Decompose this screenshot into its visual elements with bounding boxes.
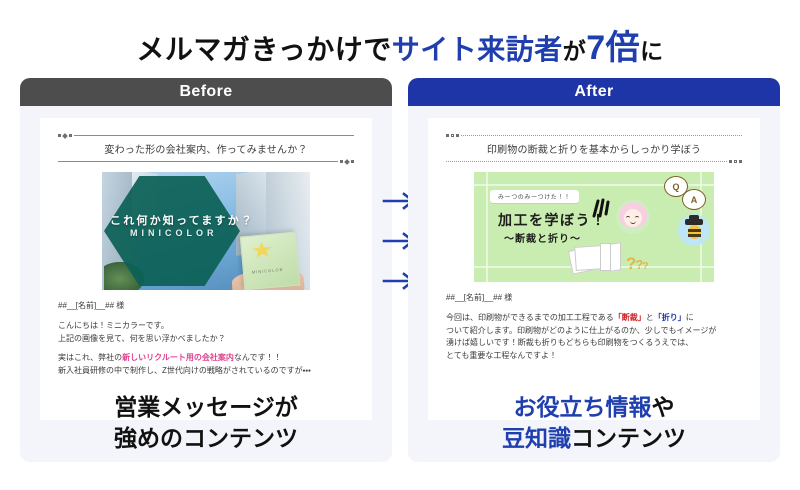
caption-line-1: 営業メッセージが — [20, 392, 392, 423]
bee-stripe — [688, 229, 701, 232]
mail-hero-image-after: みーつのみーつけた！！ 加工を学ぼう！ 〜断裁と折り〜 Q — [474, 172, 714, 282]
hero-brand-text: MINICOLOR — [130, 228, 218, 238]
title-part-2-highlight: サイト来訪者 — [392, 34, 563, 65]
panel-before-header: Before — [20, 78, 392, 106]
rule-bar — [461, 135, 742, 136]
caption-line-1: お役立ち情報や — [408, 392, 780, 423]
mail-line: こんにちは！ミニカラーです。 — [58, 321, 169, 330]
guide-line — [486, 172, 488, 282]
title-part-1: メルマガきっかけで — [136, 34, 391, 65]
mail-hero-image-before: これ何か知ってますか？ MINICOLOR MINICOLOR — [102, 172, 310, 290]
folded-paper — [610, 242, 621, 272]
mail-line: 上記の画像を見て、何を思い浮かべましたか？ — [58, 334, 226, 343]
page-title: メルマガきっかけでサイト来訪者が7倍に — [0, 20, 800, 69]
mail-line: とても重要な工程なんですよ！ — [446, 351, 557, 360]
sparkle-icon — [592, 198, 610, 218]
brochure-logo-text: MINICOLOR — [252, 267, 284, 275]
title-part-3: が — [563, 38, 587, 64]
outline-square-marker-icon — [734, 160, 737, 163]
panel-after-header: After — [408, 78, 780, 106]
square-marker-icon — [456, 134, 459, 137]
qa-speech-bubbles: Q A — [662, 176, 708, 212]
question-mark-small: ? — [642, 261, 647, 272]
headline-rule-top — [446, 132, 742, 139]
mail-preview-after: 印刷物の断裁と折りを基本からしっかり学ぼう みーつのみーつけた！！ 加工を学ぼう… — [428, 118, 760, 420]
rule-bar — [446, 161, 727, 162]
caption-line-2: 強めのコンテンツ — [20, 423, 392, 454]
mail-line: に — [686, 313, 694, 322]
bee-character-icon — [678, 214, 710, 246]
question-mark-large: ? — [626, 254, 635, 273]
hero-main-text: これ何か知ってますか？ — [110, 212, 292, 228]
rule-bar — [74, 135, 354, 136]
mail-paragraph: こんにちは！ミニカラーです。 上記の画像を見て、何を思い浮かべましたか？ — [58, 320, 354, 345]
bee-stripe — [688, 234, 701, 237]
avatar-eye — [635, 216, 639, 219]
brochure-card: MINICOLOR — [240, 232, 300, 290]
outline-square-marker-icon — [451, 134, 454, 137]
caption-highlight: 豆知識 — [502, 425, 571, 451]
mail-headline-text: 変わった形の会社案内、作ってみませんか？ — [58, 139, 354, 158]
headline-rule-top — [58, 132, 354, 139]
mail-salutation: ##__[名前]__## 様 — [58, 300, 354, 312]
caption-highlight: お役立ち情報 — [514, 394, 652, 420]
infographic-canvas: メルマガきっかけでサイト来訪者が7倍に Before 変わった形の会社案内、作っ… — [0, 0, 800, 490]
mail-emphasis: 新しいリクルート用の会社案内 — [122, 353, 234, 362]
square-marker-icon — [739, 160, 742, 163]
mail-emphasis-blue: 「折り」 — [654, 313, 686, 322]
square-marker-icon — [446, 134, 449, 137]
mail-preview-before: 変わった形の会社案内、作ってみませんか？ これ何か知ってますか？ MINI — [40, 118, 372, 420]
square-marker-icon — [58, 134, 61, 137]
bee-body — [688, 225, 701, 239]
mail-line: 新入社員研修の中で制作し、Z世代向けの戦略がされているのですが・・・ — [58, 366, 311, 375]
rule-bar — [58, 161, 338, 162]
caption-before: 営業メッセージが 強めのコンテンツ — [20, 392, 392, 454]
answer-bubble: A — [682, 189, 706, 210]
mail-headline-text: 印刷物の断裁と折りを基本からしっかり学ぼう — [446, 139, 742, 158]
mail-body-after: ##__[名前]__## 様 今回は、印刷物ができるまでの加工工程である「断裁」… — [446, 292, 742, 362]
girl-avatar-icon — [616, 200, 650, 234]
mail-line: と — [646, 313, 654, 322]
mail-paragraph: 実はこれ、弊社の新しいリクルート用の会社案内なんです！！ 新入社員研修の中で制作… — [58, 352, 354, 377]
headline-rule-bottom — [446, 158, 742, 165]
mail-headline-before: 変わった形の会社案内、作ってみませんか？ — [58, 132, 354, 165]
paper-sheets-icon — [570, 240, 624, 272]
diamond-marker-icon — [344, 159, 350, 165]
caption-line-2: 豆知識コンテンツ — [408, 423, 780, 454]
mail-body-before: ##__[名前]__## 様 こんにちは！ミニカラーです。 上記の画像を見て、何… — [58, 300, 354, 377]
square-marker-icon — [351, 160, 354, 163]
title-part-4-highlight: 7倍 — [586, 29, 640, 67]
mail-headline-after: 印刷物の断裁と折りを基本からしっかり学ぼう — [446, 132, 742, 165]
mail-salutation: ##__[名前]__## 様 — [446, 292, 742, 304]
caption-plain: コンテンツ — [571, 425, 686, 451]
mail-line: 今回は、印刷物ができるまでの加工工程である — [446, 313, 614, 322]
mail-line: なんです！！ — [234, 353, 282, 362]
title-part-5: に — [640, 38, 664, 64]
caption-after: お役立ち情報や 豆知識コンテンツ — [408, 392, 780, 454]
diamond-marker-icon — [62, 133, 68, 139]
mail-paragraph: 今回は、印刷物ができるまでの加工工程である「断裁」と「折り」に ついて紹介します… — [446, 312, 742, 362]
hero-title: 加工を学ぼう！ — [498, 210, 607, 230]
avatar-eye — [626, 216, 630, 219]
mail-line: ついて紹介します。印刷物がどのように仕上がるのか、少しでもイメージが — [446, 326, 716, 335]
square-marker-icon — [729, 160, 732, 163]
mail-line: 実はこれ、弊社の — [58, 353, 122, 362]
square-marker-icon — [340, 160, 343, 163]
square-marker-icon — [69, 134, 72, 137]
question-marks: ??? — [626, 254, 647, 274]
mail-line: 湧けば嬉しいです！断裁も折りもどちらも印刷物をつくるうえでは、 — [446, 338, 693, 347]
hero-tag-label: みーつのみーつけた！！ — [490, 190, 579, 203]
mail-emphasis-red: 「断裁」 — [614, 313, 646, 322]
headline-rule-bottom — [58, 158, 354, 165]
caption-plain: や — [652, 394, 675, 420]
